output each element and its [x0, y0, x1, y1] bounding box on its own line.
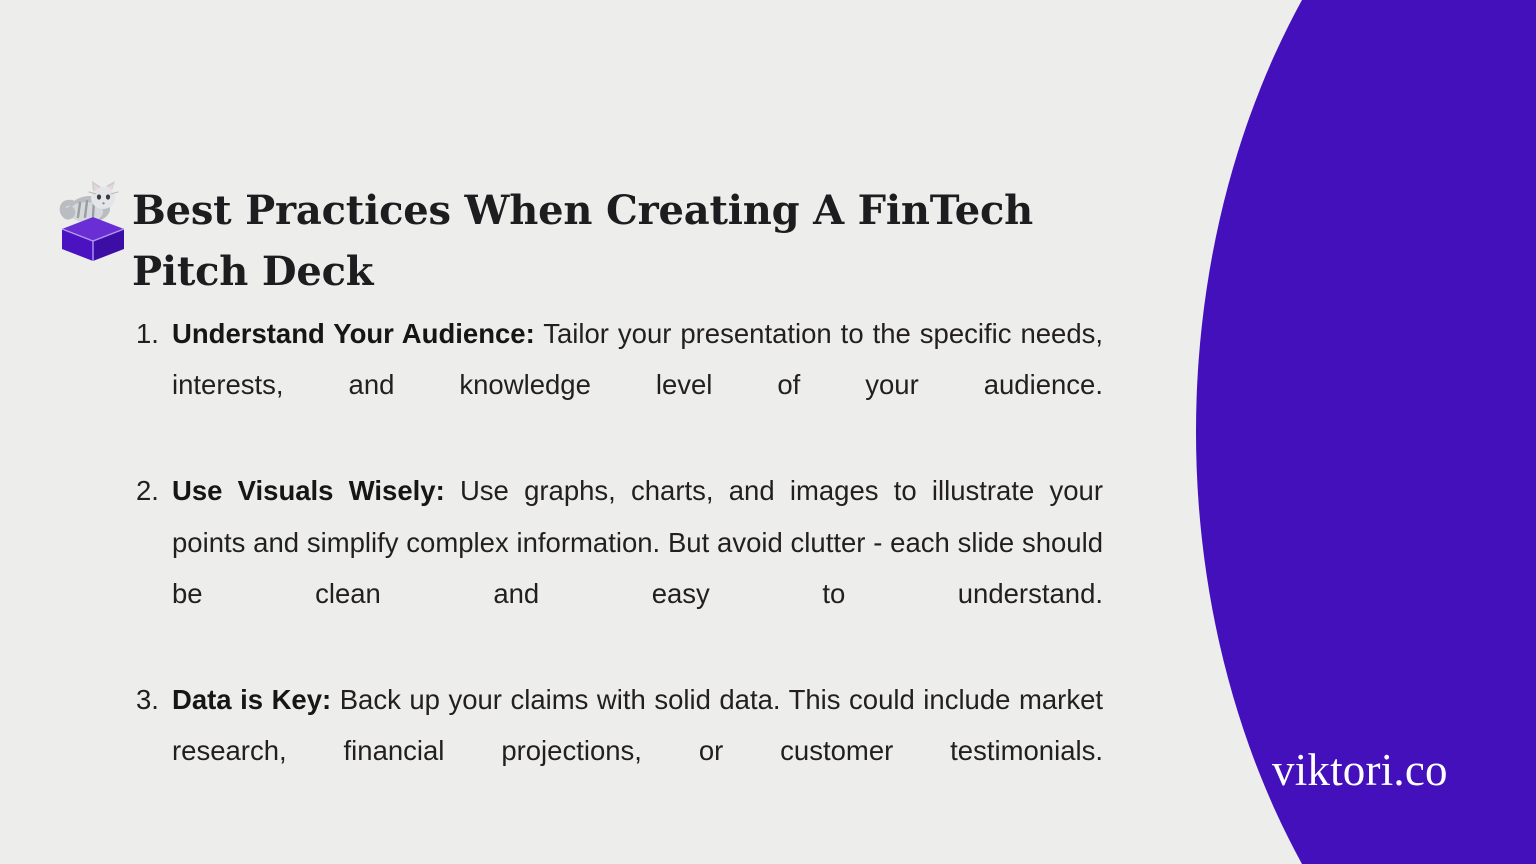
- list-item-lead: Data is Key:: [172, 684, 331, 715]
- best-practices-list: Understand Your Audience: Tailor your pr…: [136, 308, 1103, 831]
- list-item-lead: Understand Your Audience:: [172, 318, 535, 349]
- page-title: Best Practices When Creating A FinTech P…: [132, 181, 1092, 303]
- list-item: Data is Key: Back up your claims with so…: [136, 674, 1103, 828]
- slide-canvas: Best Practices When Creating A FinTech P…: [0, 0, 1536, 864]
- list-item: Understand Your Audience: Tailor your pr…: [136, 308, 1103, 462]
- brand-accent-shape: [1196, 0, 1536, 864]
- cube-with-cat-icon: [56, 177, 130, 261]
- list-item-lead: Use Visuals Wisely:: [172, 475, 445, 506]
- brand-wordmark: viktori.co: [1272, 748, 1448, 793]
- heading-row: Best Practices When Creating A FinTech P…: [56, 175, 1111, 303]
- list-item: Use Visuals Wisely: Use graphs, charts, …: [136, 465, 1103, 671]
